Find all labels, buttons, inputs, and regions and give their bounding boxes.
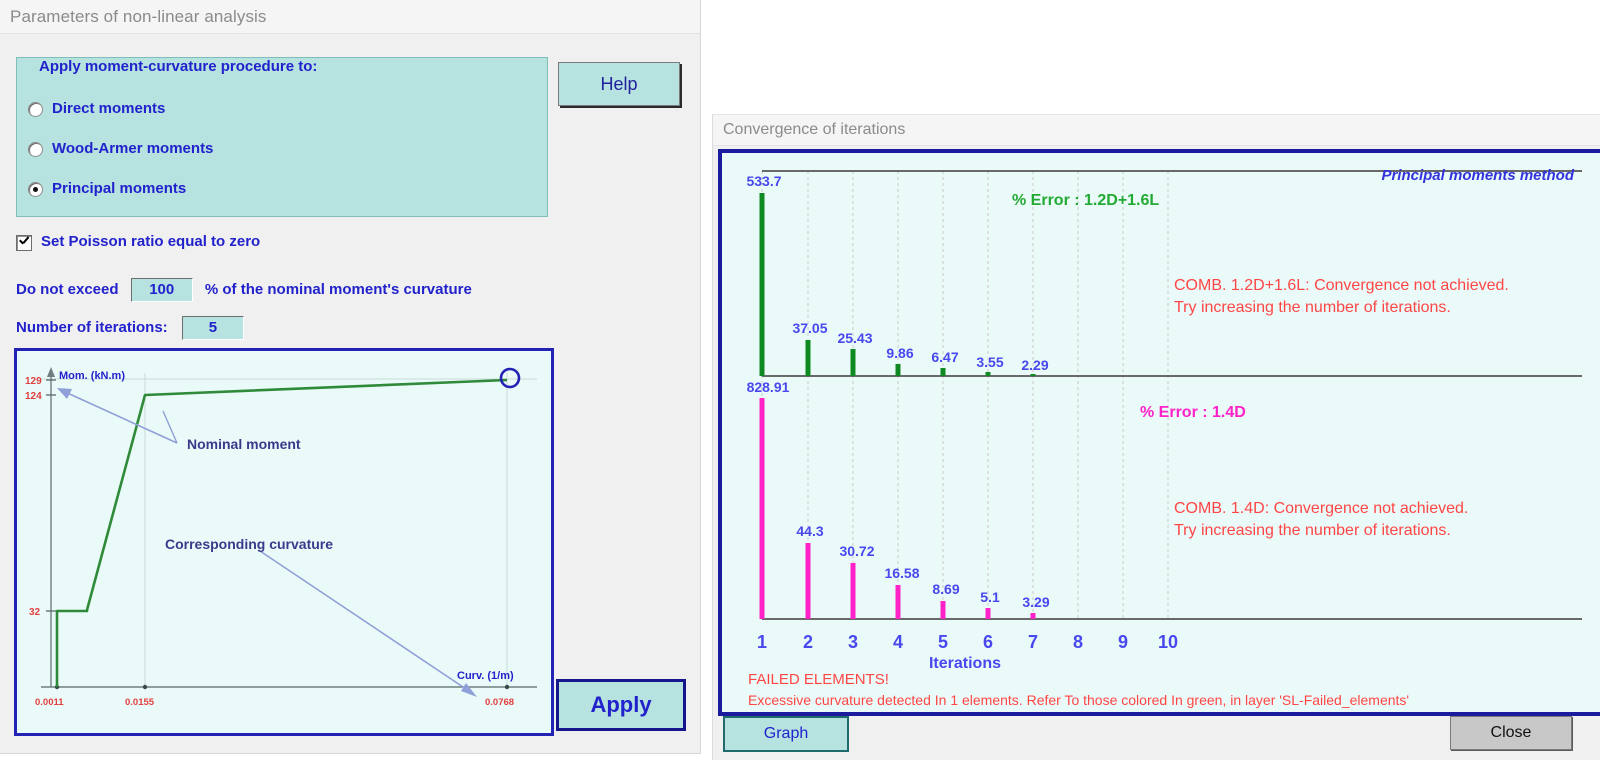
svg-text:0.0155: 0.0155 <box>125 697 155 708</box>
apply-button-label: Apply <box>590 692 651 718</box>
radio-wood-armer-moments-label: Wood-Armer moments <box>52 140 213 157</box>
svg-text:828.91: 828.91 <box>747 379 790 395</box>
close-button[interactable]: Close <box>1450 716 1572 750</box>
radio-direct-moments-label: Direct moments <box>52 100 165 117</box>
svg-text:25.43: 25.43 <box>837 330 872 346</box>
convergence-chart-panel: 533.7 37.05 25.43 9.86 6.47 3.55 2.29 % … <box>718 149 1600 716</box>
svg-text:6.47: 6.47 <box>931 349 958 365</box>
svg-text:30.72: 30.72 <box>839 543 874 559</box>
iterations-label: Number of iterations: <box>16 319 168 336</box>
svg-text:Iterations: Iterations <box>929 655 1001 672</box>
warning-combination-2-line1: COMB. 1.4D: Convergence not achieved. <box>1174 498 1468 520</box>
apply-button[interactable]: Apply <box>556 679 686 731</box>
svg-text:9.86: 9.86 <box>886 345 913 361</box>
svg-text:2.29: 2.29 <box>1021 357 1048 373</box>
svg-text:6: 6 <box>983 632 993 652</box>
iterations-row: Number of iterations: 5 <box>16 316 244 340</box>
graph-button-label: Graph <box>764 725 808 743</box>
moment-curvature-svg: 129 124 32 Mom. (kN.m) 0.0011 0.0155 0.0… <box>17 351 545 727</box>
curvature-limit-row: Do not exceed 100 % of the nominal momen… <box>16 278 472 302</box>
graph-button[interactable]: Graph <box>723 716 849 752</box>
svg-text:3.29: 3.29 <box>1022 594 1049 610</box>
radio-principal-moments-label: Principal moments <box>52 180 186 197</box>
svg-text:8: 8 <box>1073 632 1083 652</box>
svg-text:% Error : 1.2D+1.6L: % Error : 1.2D+1.6L <box>1012 192 1159 209</box>
svg-text:44.3: 44.3 <box>796 523 823 539</box>
svg-text:8.69: 8.69 <box>932 581 959 597</box>
svg-text:Curv. (1/m): Curv. (1/m) <box>457 670 514 682</box>
svg-text:7: 7 <box>1028 632 1038 652</box>
svg-text:5: 5 <box>938 632 948 652</box>
radio-principal-moments-icon[interactable] <box>28 182 43 197</box>
svg-text:0.0011: 0.0011 <box>35 697 64 708</box>
left-window-title: Parameters of non-linear analysis <box>10 7 267 27</box>
curvature-limit-prefix: Do not exceed <box>16 281 119 298</box>
checkbox-checked-icon[interactable] <box>16 235 32 251</box>
warning-combination-1-line2: Try increasing the number of iterations. <box>1174 297 1509 319</box>
svg-text:533.7: 533.7 <box>746 173 781 189</box>
svg-text:Corresponding curvature: Corresponding curvature <box>165 536 333 552</box>
iterations-input[interactable]: 5 <box>182 316 244 340</box>
moment-curvature-plot: 129 124 32 Mom. (kN.m) 0.0011 0.0155 0.0… <box>14 348 554 736</box>
svg-text:% Error : 1.4D: % Error : 1.4D <box>1140 404 1246 421</box>
convergence-window: Convergence of iterations <box>712 114 1600 760</box>
right-window-titlebar: Convergence of iterations <box>713 115 1600 146</box>
svg-text:2: 2 <box>803 632 813 652</box>
groupbox-legend: Apply moment-curvature procedure to: <box>35 58 321 75</box>
right-window-title: Convergence of iterations <box>723 121 905 139</box>
warning-combination-2-line2: Try increasing the number of iterations. <box>1174 520 1468 542</box>
curvature-limit-input[interactable]: 100 <box>131 278 193 302</box>
svg-text:5.1: 5.1 <box>980 589 1000 605</box>
svg-text:37.05: 37.05 <box>792 320 827 336</box>
poisson-checkbox-label: Set Poisson ratio equal to zero <box>41 233 260 250</box>
convergence-charts-svg: 533.7 37.05 25.43 9.86 6.47 3.55 2.29 % … <box>722 153 1592 704</box>
svg-text:124: 124 <box>25 391 42 402</box>
help-button[interactable]: Help <box>558 62 680 106</box>
help-button-label: Help <box>600 74 637 95</box>
svg-text:3: 3 <box>848 632 858 652</box>
svg-text:9: 9 <box>1118 632 1128 652</box>
left-window-titlebar: Parameters of non-linear analysis <box>0 0 700 34</box>
radio-direct-moments-icon[interactable] <box>28 102 43 117</box>
radio-wood-armer-moments-icon[interactable] <box>28 142 43 157</box>
svg-text:129: 129 <box>25 376 42 387</box>
svg-text:4: 4 <box>893 632 903 652</box>
warning-combination-1-line1: COMB. 1.2D+1.6L: Convergence not achieve… <box>1174 275 1509 297</box>
svg-text:Mom. (kN.m): Mom. (kN.m) <box>59 370 125 382</box>
method-label: Principal moments method <box>1381 167 1574 184</box>
warning-combination-2: COMB. 1.4D: Convergence not achieved. Tr… <box>1174 498 1468 541</box>
warning-combination-1: COMB. 1.2D+1.6L: Convergence not achieve… <box>1174 275 1509 318</box>
svg-text:0.0768: 0.0768 <box>485 697 514 708</box>
svg-text:16.58: 16.58 <box>884 565 919 581</box>
failed-elements-body: Excessive curvature detected In 1 elemen… <box>748 692 1409 708</box>
svg-text:10: 10 <box>1158 632 1178 652</box>
svg-text:1: 1 <box>757 632 767 652</box>
svg-text:32: 32 <box>29 607 41 618</box>
failed-elements-title: FAILED ELEMENTS! <box>748 671 889 688</box>
svg-text:3.55: 3.55 <box>976 354 1003 370</box>
parameters-window: Parameters of non-linear analysis Apply … <box>0 0 701 754</box>
close-button-label: Close <box>1491 724 1532 742</box>
curvature-limit-suffix: % of the nominal moment's curvature <box>205 281 472 298</box>
svg-text:Nominal moment: Nominal moment <box>187 436 301 452</box>
